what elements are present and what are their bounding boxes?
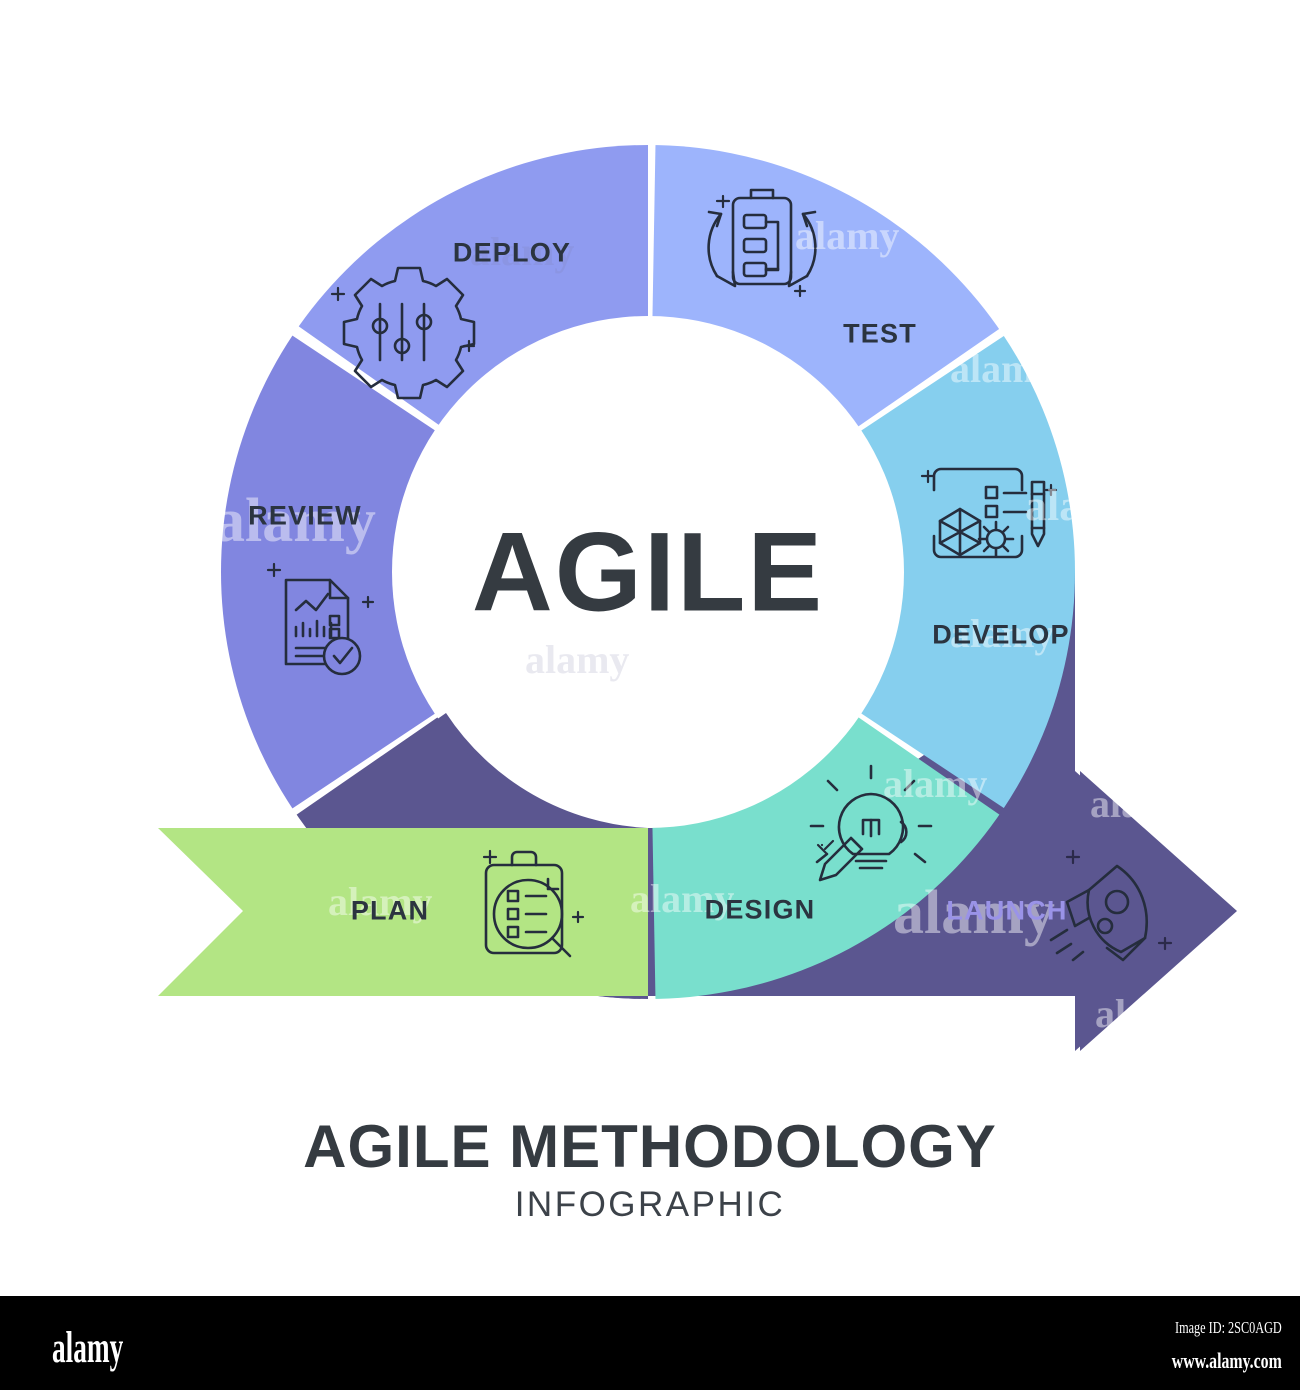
- page-title: AGILE METHODOLOGY: [0, 1115, 1300, 1179]
- title-block: AGILE METHODOLOGY INFOGRAPHIC: [0, 1115, 1300, 1225]
- page-subtitle: INFOGRAPHIC: [0, 1185, 1300, 1225]
- launch-arrow-head: [1080, 771, 1237, 1051]
- watermark-bar: alamy Image ID: 2SC0AGD www.alamy.com: [0, 1296, 1300, 1390]
- watermark-info: Image ID: 2SC0AGD www.alamy.com: [1129, 1318, 1282, 1374]
- agile-cycle-diagram: [0, 0, 1300, 1290]
- image-id-text: Image ID: 2SC0AGD: [1172, 1318, 1282, 1338]
- alamy-url-text: www.alamy.com: [1172, 1348, 1282, 1374]
- alamy-logo: alamy: [52, 1322, 123, 1373]
- segment-plan[interactable]: [158, 828, 648, 996]
- infographic-canvas: alamy alamy alamy alamy alamy alamy alam…: [0, 0, 1300, 1390]
- center-label-agile: AGILE: [472, 508, 824, 637]
